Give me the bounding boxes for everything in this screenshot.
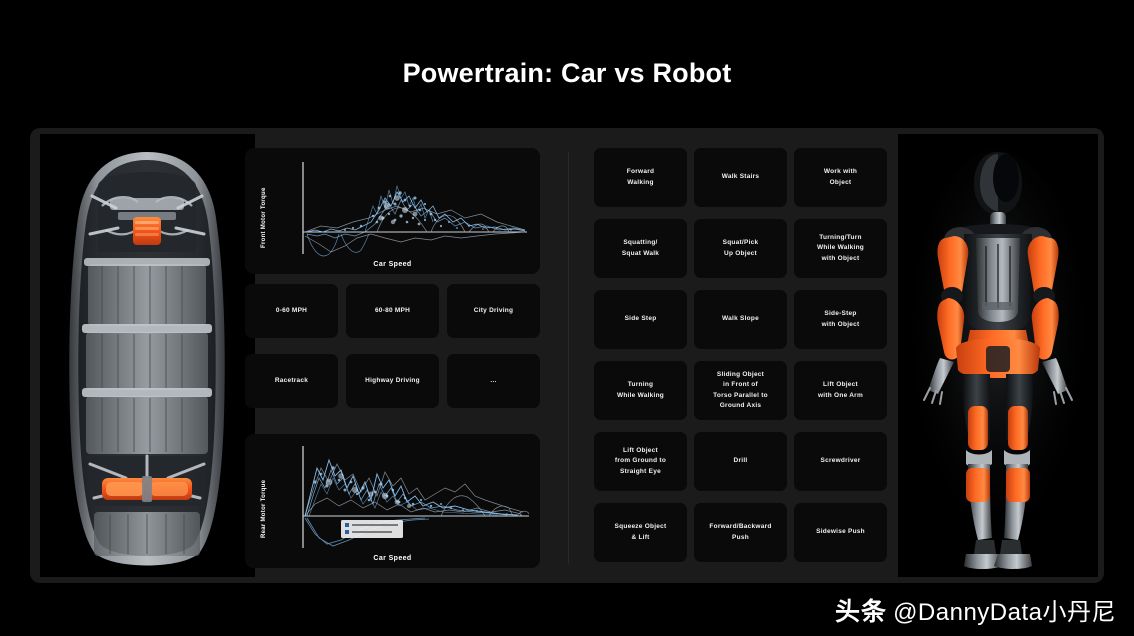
robot-tile-17[interactable]: Sidewise Push — [794, 503, 887, 562]
robot-tasks-column: Forward Walking Walk Stairs Work with Ob… — [594, 148, 896, 568]
chart-front-y-axis-label: Front Motor Torque — [261, 187, 267, 248]
robot-tile-label: Walk Stairs — [722, 172, 760, 182]
robot-tile-1[interactable]: Walk Stairs — [694, 148, 787, 207]
watermark-handle: @DannyData小丹尼 — [893, 592, 1116, 627]
car-tile-3[interactable]: Racetrack — [245, 354, 338, 408]
robot-tile-label: Squatting/ Squat Walk — [622, 238, 659, 258]
robot-tile-label: Lift Object from Ground to Straight Eye — [615, 446, 666, 476]
robot-tile-label: Sidewise Push — [816, 527, 865, 537]
chart-rear-x-axis-label: Car Speed — [245, 555, 540, 562]
robot-tile-3[interactable]: Squatting/ Squat Walk — [594, 219, 687, 278]
robot-tile-10[interactable]: Sliding Object in Front of Torso Paralle… — [694, 361, 787, 420]
page-title: Powertrain: Car vs Robot — [0, 58, 1134, 89]
robot-tile-label: Drill — [734, 456, 748, 466]
car-tile-label: 0-60 MPH — [276, 306, 307, 316]
robot-tile-2[interactable]: Work with Object — [794, 148, 887, 207]
chart-rear-motor-torque: Rear Motor Torque Car Speed — [245, 434, 540, 568]
robot-tile-16[interactable]: Forward/Backward Push — [694, 503, 787, 562]
robot-tile-label: Walk Slope — [722, 314, 759, 324]
chart-rear-y-axis-label: Rear Motor Torque — [261, 480, 267, 538]
car-tile-label: Racetrack — [275, 376, 308, 386]
content-panel: Front Motor Torque Car Speed 0-60 MPH 60… — [30, 128, 1104, 583]
robot-tile-12[interactable]: Lift Object from Ground to Straight Eye — [594, 432, 687, 491]
robot-tile-label: Turning While Walking — [617, 380, 664, 400]
chart-rear-legend — [341, 520, 403, 538]
car-metrics-column: Front Motor Torque Car Speed 0-60 MPH 60… — [245, 148, 552, 568]
car-tile-1[interactable]: 60-80 MPH — [346, 284, 439, 338]
car-tile-label: ... — [490, 376, 496, 386]
car-tile-label: City Driving — [474, 306, 513, 316]
robot-tile-9[interactable]: Turning While Walking — [594, 361, 687, 420]
chart-front-x-axis-label: Car Speed — [245, 261, 540, 268]
car-tile-4[interactable]: Highway Driving — [346, 354, 439, 408]
car-tile-0[interactable]: 0-60 MPH — [245, 284, 338, 338]
robot-tile-label: Screwdriver — [821, 456, 861, 466]
car-tile-label: 60-80 MPH — [375, 306, 410, 316]
robot-tile-4[interactable]: Squat/Pick Up Object — [694, 219, 787, 278]
robot-tile-6[interactable]: Side Step — [594, 290, 687, 349]
robot-tile-label: Side Step — [625, 314, 657, 324]
robot-tile-15[interactable]: Squeeze Object & Lift — [594, 503, 687, 562]
robot-tile-11[interactable]: Lift Object with One Arm — [794, 361, 887, 420]
robot-tile-label: Turning/Turn While Walking with Object — [817, 233, 864, 263]
robot-tile-label: Squat/Pick Up Object — [723, 238, 759, 258]
slide-root: Powertrain: Car vs Robot — [0, 0, 1134, 636]
chart-front-motor-torque: Front Motor Torque Car Speed — [245, 148, 540, 274]
robot-tile-8[interactable]: Side-Step with Object — [794, 290, 887, 349]
robot-tile-label: Forward Walking — [627, 167, 654, 187]
robot-tile-7[interactable]: Walk Slope — [694, 290, 787, 349]
robot-tile-0[interactable]: Forward Walking — [594, 148, 687, 207]
humanoid-robot-image — [898, 134, 1098, 577]
robot-tile-5[interactable]: Turning/Turn While Walking with Object — [794, 219, 887, 278]
robot-tile-label: Sliding Object in Front of Torso Paralle… — [713, 370, 768, 410]
robot-tile-label: Forward/Backward Push — [709, 522, 771, 542]
robot-tile-13[interactable]: Drill — [694, 432, 787, 491]
robot-tile-label: Work with Object — [824, 167, 857, 187]
car-tile-5[interactable]: ... — [447, 354, 540, 408]
robot-tile-label: Squeeze Object & Lift — [615, 522, 667, 542]
car-tile-label: Highway Driving — [365, 376, 420, 386]
watermark-logo: 头条 — [835, 592, 887, 628]
watermark: 头条 @DannyData小丹尼 — [835, 592, 1116, 628]
robot-tile-14[interactable]: Screwdriver — [794, 432, 887, 491]
car-chassis-image — [40, 134, 255, 577]
car-tile-2[interactable]: City Driving — [447, 284, 540, 338]
robot-tile-label: Lift Object with One Arm — [818, 380, 863, 400]
section-divider — [568, 152, 569, 564]
robot-tile-label: Side-Step with Object — [822, 309, 860, 329]
